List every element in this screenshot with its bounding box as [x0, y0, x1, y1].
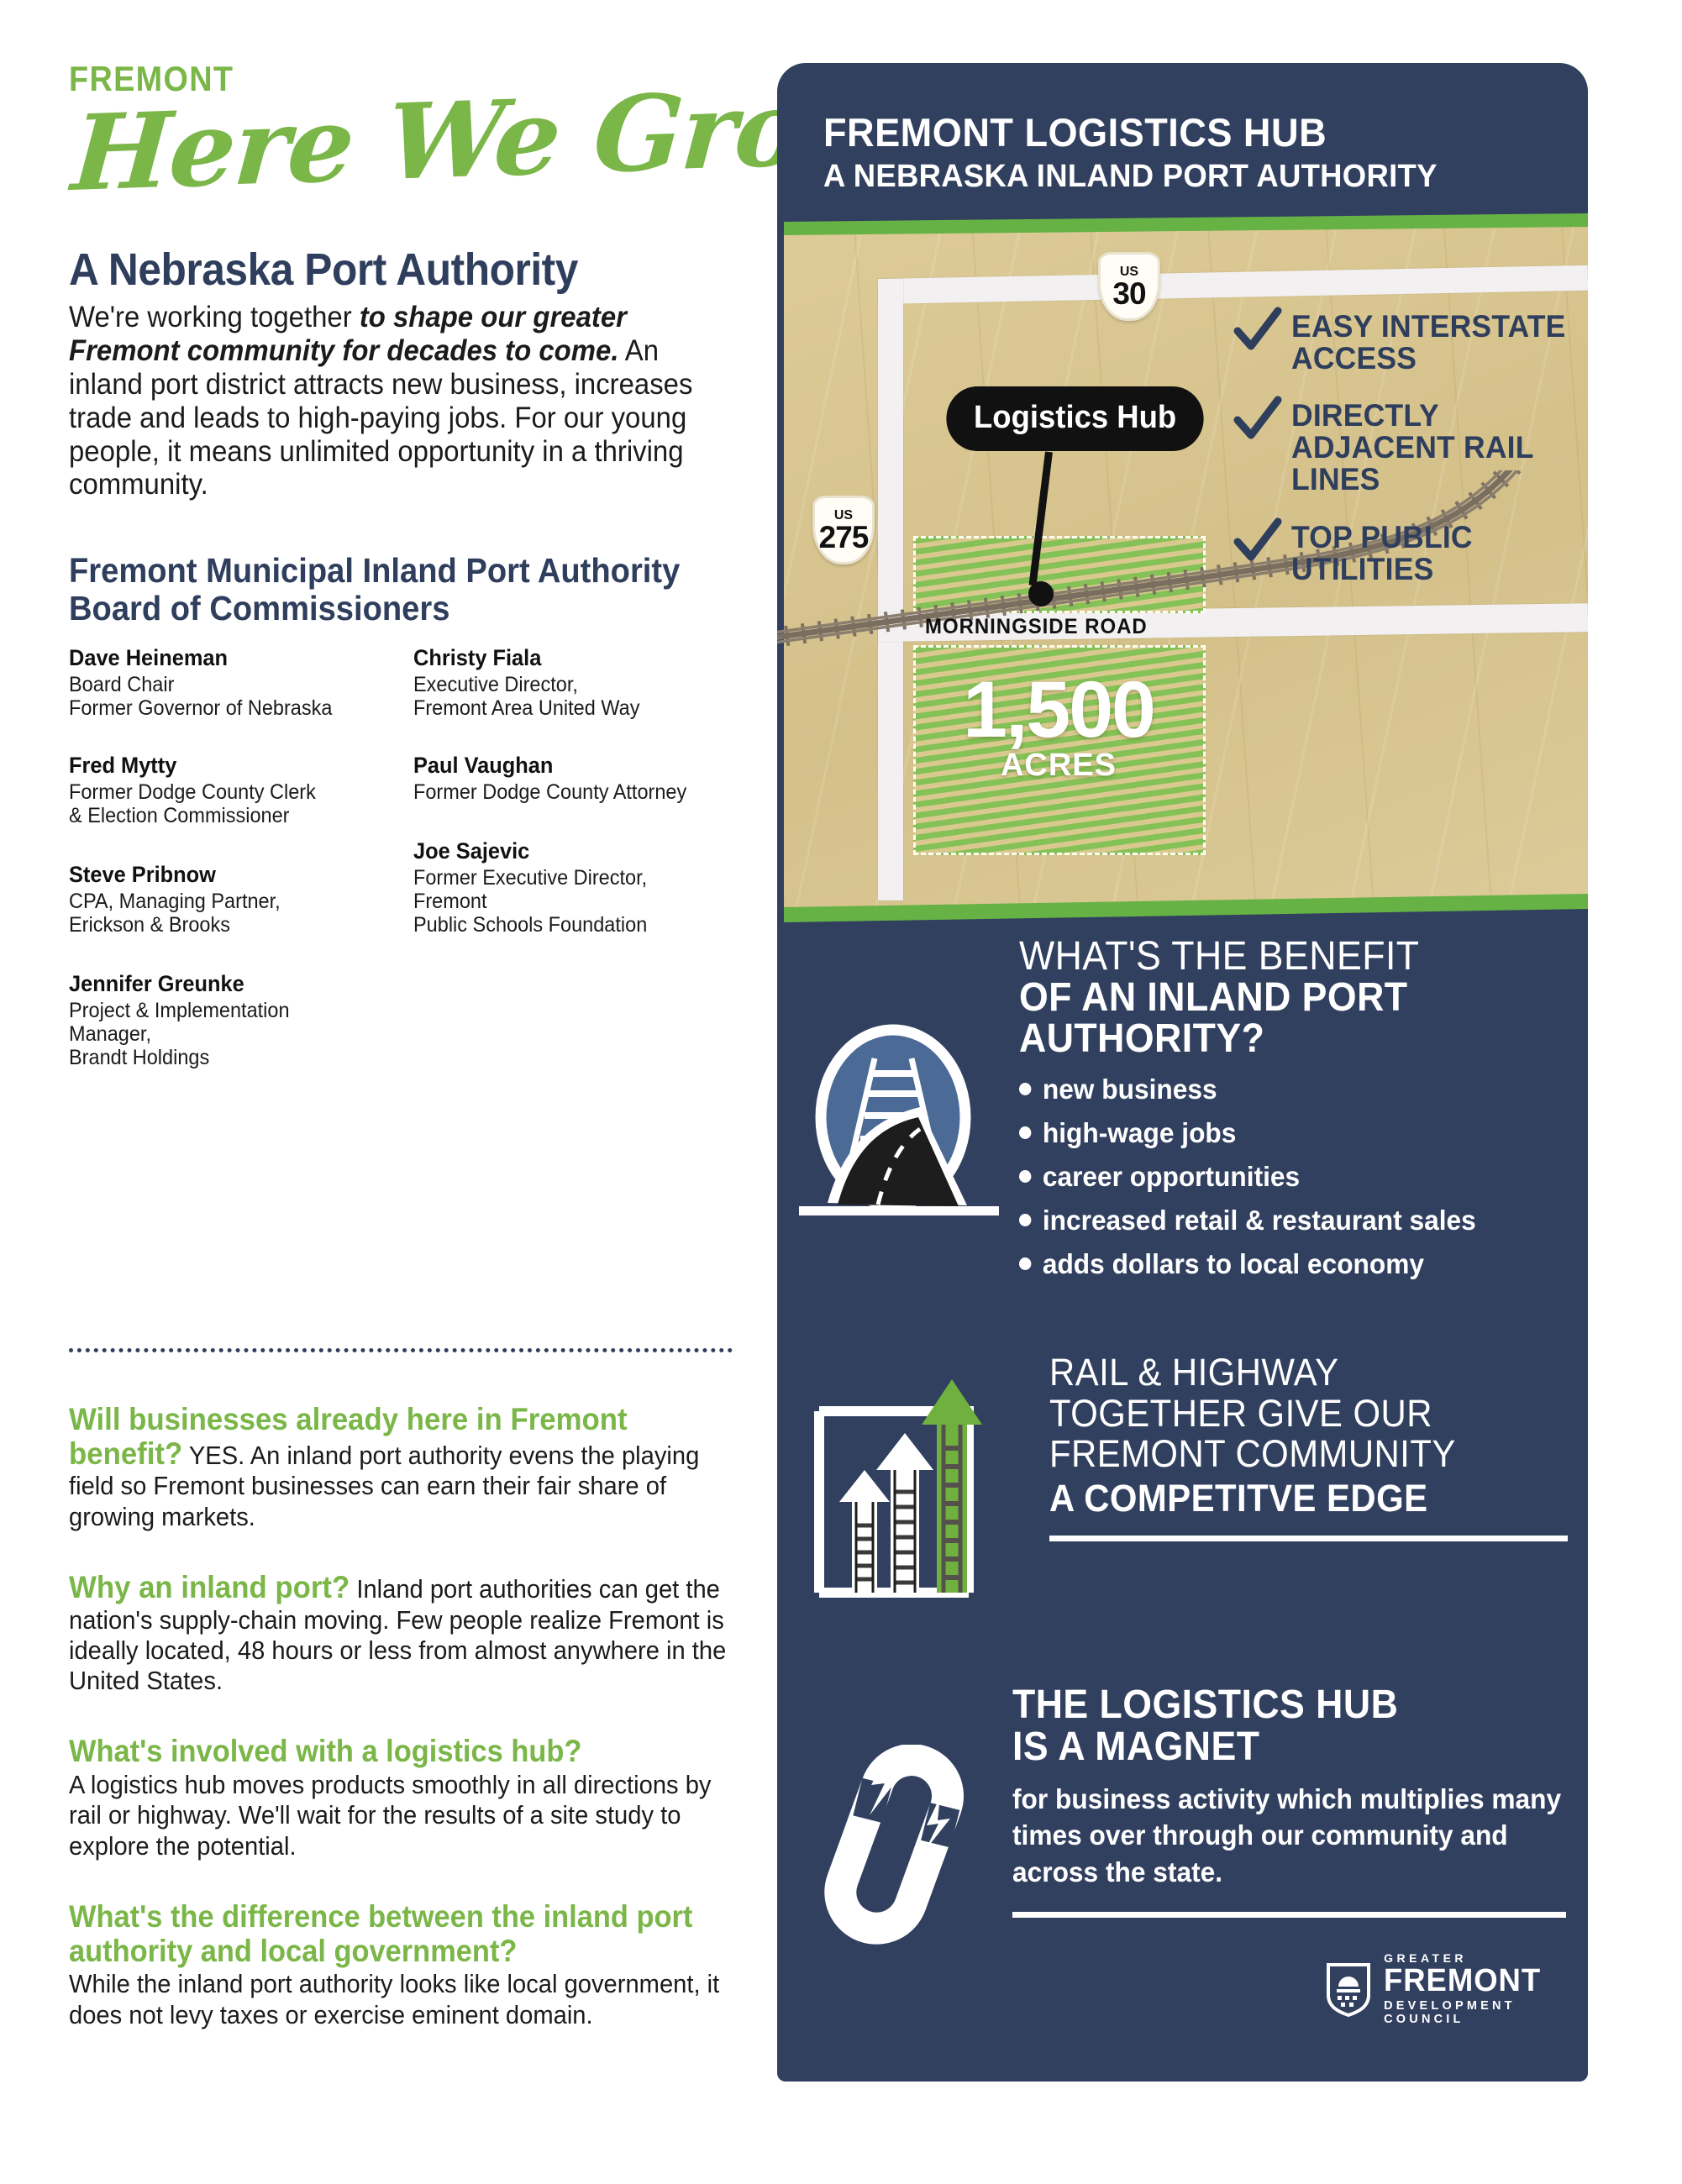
acreage-callout: 1,500 ACRES [920, 672, 1197, 784]
panel-title: FREMONT LOGISTICS HUB [823, 109, 1558, 155]
benefit-bullet: high-wage jobs [1019, 1117, 1549, 1149]
acreage-number: 1,500 [920, 672, 1197, 748]
commissioners-list: Dave Heineman Board Chair Former Governo… [69, 645, 741, 981]
commissioner-name: Joe Sajevic [413, 838, 697, 864]
logo-fremont: FREMONT [1384, 1965, 1541, 1997]
magnet-icon [801, 1745, 994, 1955]
benefit-bullet-label: increased retail & restaurant sales [1043, 1205, 1476, 1236]
commissioner-entry: Christy Fiala Executive Director, Fremon… [413, 645, 716, 721]
benefit-bullet: increased retail & restaurant sales [1019, 1205, 1549, 1236]
acreage-unit: ACRES [920, 748, 1197, 784]
growth-arrows-chart-icon [804, 1368, 1039, 1611]
commissioner-entry: Jennifer Greunke Project & Implementatio… [69, 971, 371, 1070]
commissioner-entry: Fred Mytty Former Dodge County Clerk & E… [69, 753, 371, 828]
road-west [878, 279, 903, 900]
commissioner-entry: Joe Sajevic Former Executive Director, F… [413, 838, 716, 937]
faq-section: Will businesses already here in Fremont … [69, 1403, 741, 2069]
benefit-heading-line1: WHAT'S THE BENEFIT [1019, 937, 1532, 978]
benefit-bullet-label: adds dollars to local economy [1043, 1248, 1424, 1280]
logo-council: COUNCIL [1384, 2013, 1548, 2026]
bullet-dot-icon [1019, 1083, 1031, 1095]
bullet-dot-icon [1019, 1170, 1031, 1183]
faq-question: What's involved with a logistics hub? [69, 1735, 738, 1769]
checkmark-icon [1231, 306, 1283, 358]
hub-marker-label: Logistics Hub [946, 386, 1203, 451]
parcel-north [913, 536, 1206, 613]
left-content-column: FREMONT Here We Grow A Nebraska Port Aut… [69, 59, 741, 981]
bullet-dot-icon [1019, 1257, 1031, 1270]
magnet-heading-line1: THE LOGISTICS HUB [1012, 1684, 1527, 1726]
edge-line-2: TOGETHER GIVE OUR [1049, 1394, 1532, 1435]
highway-shield-us30: US 30 [1098, 252, 1160, 321]
magnet-section: THE LOGISTICS HUB IS A MAGNET for busine… [777, 1684, 1588, 1955]
checklist-label: DIRECTLY ADJACENT RAIL LINES [1291, 400, 1572, 496]
checkmark-icon [1231, 395, 1283, 447]
edge-line-3: FREMONT COMMUNITY [1049, 1434, 1532, 1475]
magnet-underline-rule [1012, 1912, 1566, 1918]
logistics-hub-panel: FREMONT LOGISTICS HUB A NEBRASKA INLAND … [777, 63, 1588, 2082]
hub-marker-pin-dot [1028, 581, 1054, 606]
benefit-bullet-label: high-wage jobs [1043, 1117, 1237, 1149]
shield-icon [1325, 1961, 1372, 2017]
competitive-edge-section: RAIL & HIGHWAY TOGETHER GIVE OUR FREMONT… [777, 1352, 1588, 1611]
commissioner-role: Former Dodge County Attorney [413, 780, 715, 804]
checklist-label: EASY INTERSTATE ACCESS [1291, 311, 1572, 375]
checklist-item: TOP PUBLIC UTILITIES [1231, 522, 1584, 585]
checkmark-icon [1231, 517, 1283, 569]
commissioner-entry: Paul Vaughan Former Dodge County Attorne… [413, 753, 716, 804]
shield-number: 30 [1112, 279, 1145, 308]
logistics-hub-marker: Logistics Hub [941, 386, 1209, 451]
highway-shield-us275: US 275 [812, 496, 875, 564]
faq-question: Why an inland port? [69, 1570, 350, 1604]
edge-line-1: RAIL & HIGHWAY [1049, 1352, 1532, 1394]
map-feature-checklist: EASY INTERSTATE ACCESS DIRECTLY ADJACENT… [1231, 311, 1584, 611]
magnet-heading-line2: IS A MAGNET [1012, 1726, 1527, 1768]
faq-item: Why an inland port? Inland port authorit… [69, 1571, 741, 1696]
faq-item: What's involved with a logistics hub? A … [69, 1735, 741, 1861]
brand-script-logo: Here We Grow [69, 79, 750, 207]
benefit-bullet: career opportunities [1019, 1161, 1549, 1193]
intro-paragraph: We're working together to shape our grea… [69, 301, 739, 501]
benefit-bullet-list: new business high-wage jobs career oppor… [1019, 1074, 1571, 1280]
benefit-bullet-label: new business [1043, 1074, 1217, 1105]
checklist-item: DIRECTLY ADJACENT RAIL LINES [1231, 400, 1584, 496]
benefit-section: WHAT'S THE BENEFIT OF AN INLAND PORT AUT… [777, 937, 1588, 1292]
benefit-body: WHAT'S THE BENEFIT OF AN INLAND PORT AUT… [1004, 937, 1588, 1292]
faq-item: What's the difference between the inland… [69, 1900, 741, 2030]
edge-line-4: A COMPETITVE EDGE [1049, 1478, 1532, 1520]
magnet-body: THE LOGISTICS HUB IS A MAGNET for busine… [994, 1684, 1588, 1918]
benefit-bullet: new business [1019, 1074, 1549, 1105]
commissioner-role: CPA, Managing Partner, Erickson & Brooks [69, 890, 371, 937]
commissioner-role: Former Executive Director, Fremont Publi… [413, 866, 715, 937]
benefit-bullet: adds dollars to local economy [1019, 1248, 1549, 1280]
commissioner-role: Project & Implementation Manager, Brandt… [69, 999, 371, 1070]
commissioner-name: Dave Heineman [69, 645, 353, 671]
gfdc-logo-text: GREATER FREMONT DEVELOPMENT COUNCIL [1384, 1951, 1548, 2026]
checklist-item: EASY INTERSTATE ACCESS [1231, 311, 1584, 375]
intro-pre: We're working together [69, 301, 360, 333]
commissioner-name: Paul Vaughan [413, 753, 697, 779]
faq-item: Will businesses already here in Fremont … [69, 1403, 741, 1532]
bullet-dot-icon [1019, 1214, 1031, 1226]
site-map: US 30 US 275 Logistics Hub MORNINGSIDE R… [777, 218, 1588, 916]
commissioner-name: Fred Mytty [69, 753, 353, 779]
benefit-heading-line2: OF AN INLAND PORT [1019, 978, 1532, 1019]
commissioner-name: Jennifer Greunke [69, 971, 353, 997]
commissioner-entry: Dave Heineman Board Chair Former Governo… [69, 645, 371, 721]
map-road-label: MORNINGSIDE ROAD [925, 615, 1148, 639]
commissioner-entry: Steve Pribnow CPA, Managing Partner, Eri… [69, 862, 371, 937]
faq-question: What's the difference between the inland… [69, 1900, 738, 1968]
checklist-label: TOP PUBLIC UTILITIES [1291, 522, 1572, 585]
commissioner-role: Board Chair Former Governor of Nebraska [69, 673, 371, 721]
commissioner-role: Executive Director, Fremont Area United … [413, 673, 715, 721]
commissioner-role: Former Dodge County Clerk & Election Com… [69, 780, 371, 828]
benefit-bullet-label: career opportunities [1043, 1161, 1300, 1193]
panel-header: FREMONT LOGISTICS HUB A NEBRASKA INLAND … [777, 63, 1588, 195]
faq-answer: A logistics hub moves products smoothly … [69, 1770, 739, 1861]
magnet-paragraph: for business activity which multiplies m… [1012, 1781, 1565, 1891]
commissioner-name: Christy Fiala [413, 645, 697, 671]
panel-subtitle: A NEBRASKA INLAND PORT AUTHORITY [823, 159, 1558, 195]
gfdc-logo: GREATER FREMONT DEVELOPMENT COUNCIL [1325, 1951, 1548, 2026]
bullet-dot-icon [1019, 1126, 1031, 1139]
section-divider [69, 1348, 733, 1352]
board-section-title: Fremont Municipal Inland Port Authority … [69, 552, 694, 627]
edge-underline-rule [1049, 1536, 1568, 1541]
page-headline: A Nebraska Port Authority [69, 244, 687, 296]
commissioner-name: Steve Pribnow [69, 862, 353, 888]
edge-body: RAIL & HIGHWAY TOGETHER GIVE OUR FREMONT… [1039, 1352, 1588, 1541]
shield-number: 275 [819, 522, 869, 552]
benefit-heading-line3: AUTHORITY? [1019, 1019, 1532, 1060]
rail-and-road-icon [794, 1016, 1004, 1226]
logo-development: DEVELOPMENT [1384, 1999, 1548, 2013]
faq-answer: While the inland port authority looks li… [69, 1969, 739, 2030]
